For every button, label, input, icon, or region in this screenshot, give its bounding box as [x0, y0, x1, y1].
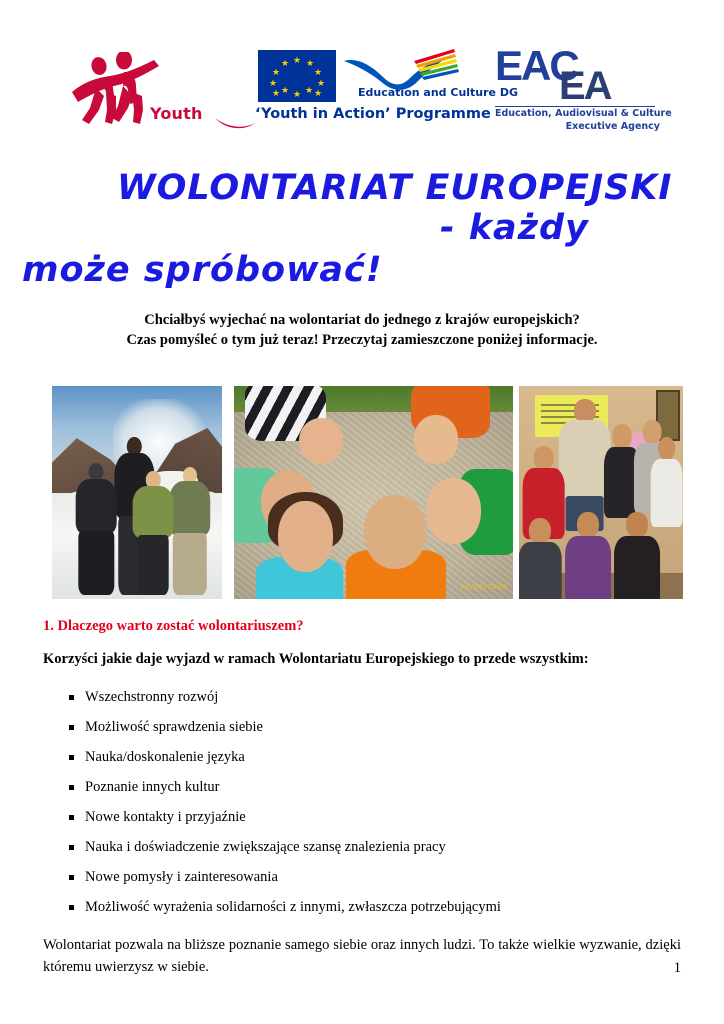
title-line-2: - każdy — [440, 208, 589, 248]
list-item: Nauka i doświadczenie zwiększające szans… — [43, 832, 681, 862]
education-culture-dg-label: Education and Culture DG — [358, 86, 518, 99]
list-item: Nowe kontakty i przyjaźnie — [43, 802, 681, 832]
youth-in-action-programme-label: ‘Youth in Action’ Programme — [255, 106, 491, 122]
title-line-1: WOLONTARIAT EUROPEJSKI — [117, 168, 672, 208]
section-heading: 1. Dlaczego warto zostać wolontariuszem? — [43, 618, 681, 635]
list-item: Możliwość sprawdzenia siebie — [43, 712, 681, 742]
list-item: Wszechstronny rozwój — [43, 682, 681, 712]
eu-flag-icon: ★ ★ ★ ★ ★ ★ ★ ★ ★ ★ ★ ★ — [258, 50, 336, 102]
closing-paragraph: Wolontariat pozwala na bliższe poznanie … — [43, 934, 681, 978]
subtitle-line-2: Czas pomyśleć o tym już teraz! Przeczyta… — [62, 330, 662, 350]
youth-logo: Youth — [66, 52, 216, 142]
svg-text:EA: EA — [559, 64, 612, 106]
photo-circle-lying-group: 24/08/2008 — [234, 386, 513, 599]
youth-in-action-logo: ★ ★ ★ ★ ★ ★ ★ ★ ★ ★ ★ ★ Educati — [250, 46, 470, 146]
photo-mountain-group — [52, 386, 222, 599]
subtitle-line-1: Chciałbyś wyjechać na wolontariat do jed… — [62, 310, 662, 330]
eacea-subtitle-line2: Executive Agency — [566, 121, 660, 132]
subtitle: Chciałbyś wyjechać na wolontariat do jed… — [62, 310, 662, 350]
photo-indoor-children-group — [519, 386, 683, 599]
logo-bar: Youth ★ ★ ★ ★ ★ ★ ★ ★ ★ ★ ★ ★ — [0, 40, 724, 152]
youth-wordmark: Youth — [150, 104, 203, 123]
photo-timestamp: 24/08/2008 — [460, 583, 507, 591]
photo-strip: 24/08/2008 — [52, 386, 683, 599]
eacea-divider — [495, 106, 655, 107]
benefits-list: Wszechstronny rozwój Możliwość sprawdzen… — [43, 682, 681, 922]
page-number: 1 — [674, 960, 681, 977]
eacea-logo: EAC EA Education, Audiovisual & Culture … — [495, 44, 670, 144]
page-title: WOLONTARIAT EUROPEJSKI - każdy może spró… — [0, 160, 724, 296]
list-item: Nauka/doskonalenie języka — [43, 742, 681, 772]
title-line-3: może spróbować! — [22, 250, 383, 290]
list-item: Poznanie innych kultur — [43, 772, 681, 802]
document-page: Youth ★ ★ ★ ★ ★ ★ ★ ★ ★ ★ ★ ★ — [0, 0, 724, 1024]
eacea-acronym-icon: EAC EA — [495, 44, 660, 106]
list-item: Nowe pomysły i zainteresowania — [43, 862, 681, 892]
main-content: 1. Dlaczego warto zostać wolontariuszem?… — [43, 618, 681, 978]
lead-paragraph: Korzyści jakie daje wyjazd w ramach Wolo… — [43, 651, 681, 668]
list-item: Możliwość wyrażenia solidarności z innym… — [43, 892, 681, 922]
eacea-subtitle-line1: Education, Audiovisual & Culture — [495, 108, 672, 119]
